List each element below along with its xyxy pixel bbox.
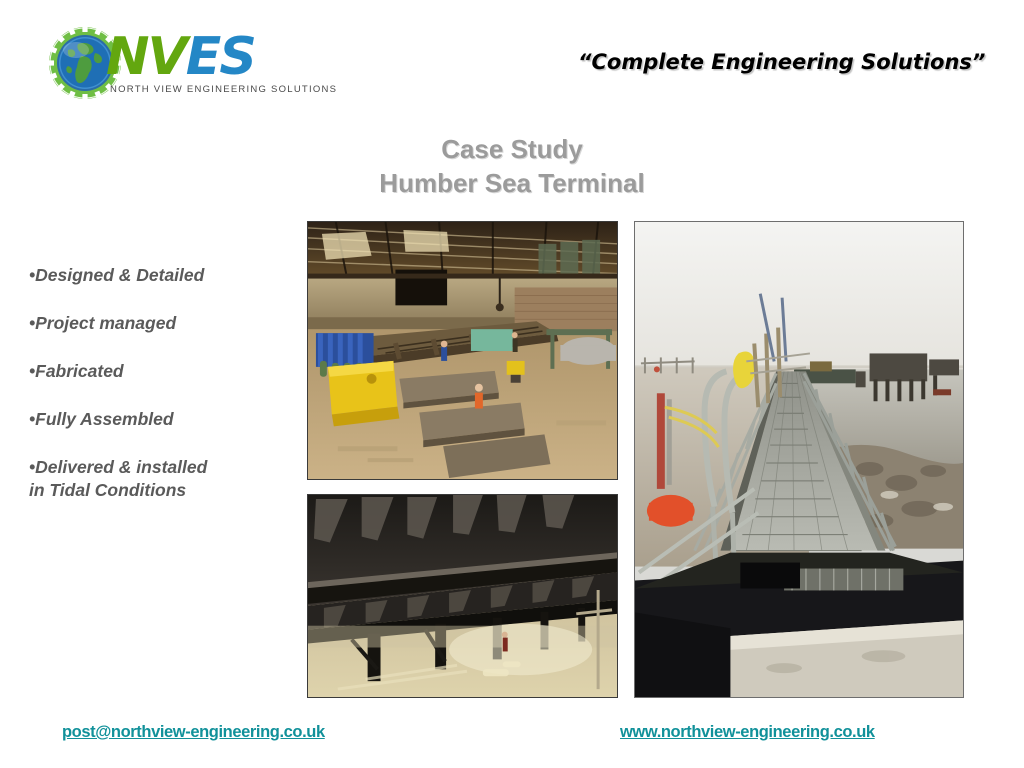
list-item: •Fully Assembled <box>29 408 279 431</box>
list-item: •Project managed <box>29 312 279 335</box>
list-item: •Designed & Detailed <box>29 264 279 287</box>
logo-wordmark: NVES <box>106 28 296 86</box>
logo-letter-s: S <box>219 27 254 87</box>
page-title-line2: Humber Sea Terminal <box>212 166 812 200</box>
header-slogan: “Complete Engineering Solutions” <box>578 50 978 74</box>
page-title-line1: Case Study <box>441 134 583 164</box>
logo-letter-e: E <box>186 27 220 87</box>
logo-tagline: NORTH VIEW ENGINEERING SOLUTIONS <box>110 84 337 95</box>
tidal-walkway-photo <box>634 221 964 698</box>
page-title: Case Study Humber Sea Terminal <box>212 132 812 200</box>
website-link[interactable]: www.northview-engineering.co.uk <box>620 723 875 742</box>
company-logo: NVES NORTH VIEW ENGINEERING SOLUTIONS <box>48 24 294 104</box>
steelwork-beams-photo <box>307 494 618 698</box>
feature-bullet-list: •Designed & Detailed •Project managed •F… <box>29 264 279 502</box>
logo-letter-v: V <box>148 27 186 87</box>
logo-letter-n: N <box>106 27 148 87</box>
list-item: •Fabricated <box>29 360 279 383</box>
email-link[interactable]: post@northview-engineering.co.uk <box>62 723 325 742</box>
list-item: •Delivered & installed in Tidal Conditio… <box>29 456 279 502</box>
workshop-fabrication-photo <box>307 221 618 480</box>
